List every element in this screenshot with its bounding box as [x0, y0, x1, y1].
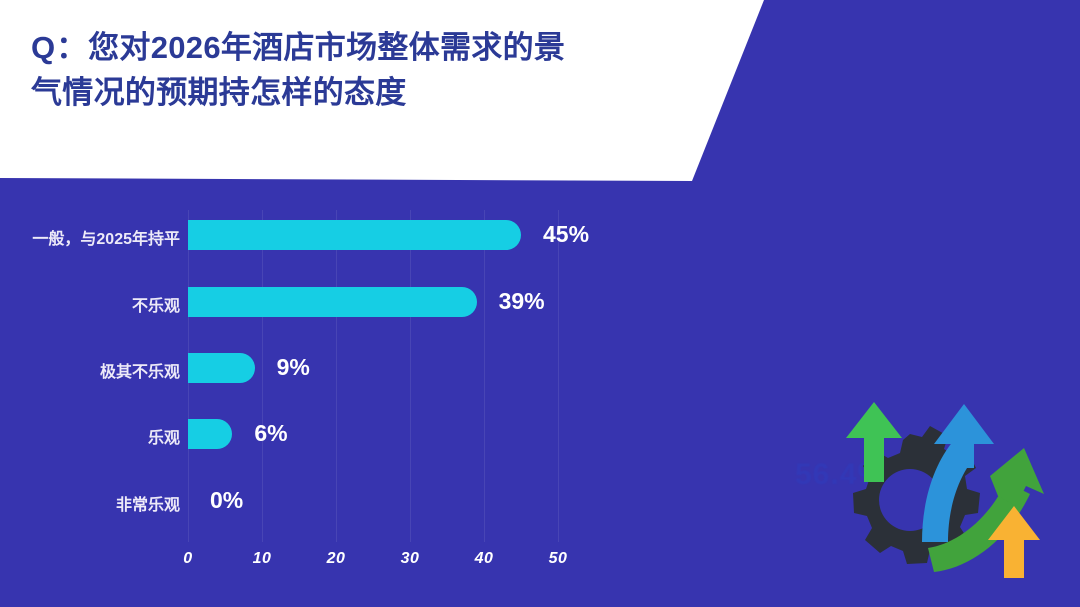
x-axis-tick-label: 50: [549, 550, 568, 568]
bar-chart: 01020304050一般，与2025年持平45%不乐观39%极其不乐观9%乐观…: [0, 182, 1080, 607]
bar[interactable]: [188, 419, 232, 449]
title-line-2: 气情况的预期持怎样的态度: [31, 71, 731, 116]
bar-row: 非常乐观0%: [188, 486, 558, 516]
value-label: 39%: [499, 288, 545, 315]
bar-row: 极其不乐观9%: [188, 353, 558, 383]
value-label: 0%: [210, 487, 243, 514]
category-label: 极其不乐观: [0, 358, 180, 382]
plot-area: 01020304050一般，与2025年持平45%不乐观39%极其不乐观9%乐观…: [188, 210, 558, 542]
bar[interactable]: [188, 287, 477, 317]
bar[interactable]: [188, 353, 255, 383]
value-label: 45%: [543, 221, 589, 248]
bar-row: 一般，与2025年持平45%: [188, 220, 558, 250]
x-axis-tick-label: 20: [327, 550, 346, 568]
bar-row: 乐观6%: [188, 419, 558, 449]
category-label: 非常乐观: [0, 491, 180, 515]
page-title: Q：您对2026年酒店市场整体需求的景 气情况的预期持怎样的态度: [31, 26, 731, 116]
x-axis-tick-label: 0: [183, 550, 192, 568]
slide-canvas: 56.4%: [0, 0, 1080, 607]
x-axis-tick-label: 40: [475, 550, 494, 568]
question-prefix: Q：: [31, 30, 88, 65]
value-label: 9%: [277, 354, 310, 381]
bar-row: 不乐观39%: [188, 287, 558, 317]
bar[interactable]: [188, 220, 521, 250]
x-axis-tick-label: 30: [401, 550, 420, 568]
category-label: 乐观: [0, 424, 180, 448]
value-label: 6%: [254, 420, 287, 447]
category-label: 一般，与2025年持平: [0, 225, 180, 249]
title-line-1: Q：您对2026年酒店市场整体需求的景: [31, 26, 731, 71]
gridline: [558, 210, 559, 542]
title-text-1: 您对2026年酒店市场整体需求的景: [88, 30, 565, 65]
category-label: 不乐观: [0, 292, 180, 316]
x-axis-tick-label: 10: [253, 550, 272, 568]
